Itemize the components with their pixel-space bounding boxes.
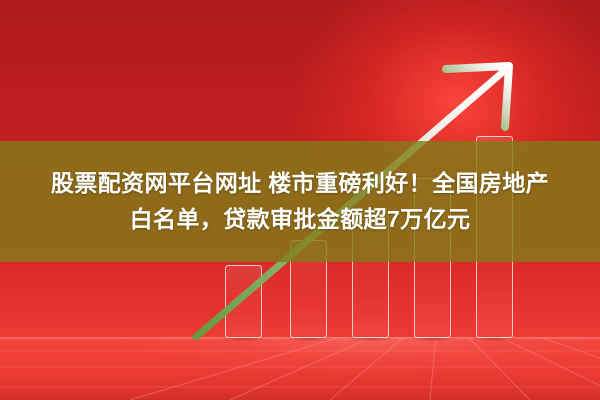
banner-image: 股票配资网平台网址 楼市重磅利好！全国房地产 白名单，贷款审批金额超7万亿元 <box>0 0 600 400</box>
headline-line-2: 白名单，贷款审批金额超7万亿元 <box>130 205 471 234</box>
bar-1 <box>225 265 262 338</box>
headline-line-1: 股票配资网平台网址 楼市重磅利好！全国房地产 <box>51 169 549 198</box>
caption-text-block: 股票配资网平台网址 楼市重磅利好！全国房地产 白名单，贷款审批金额超7万亿元 <box>0 141 600 262</box>
